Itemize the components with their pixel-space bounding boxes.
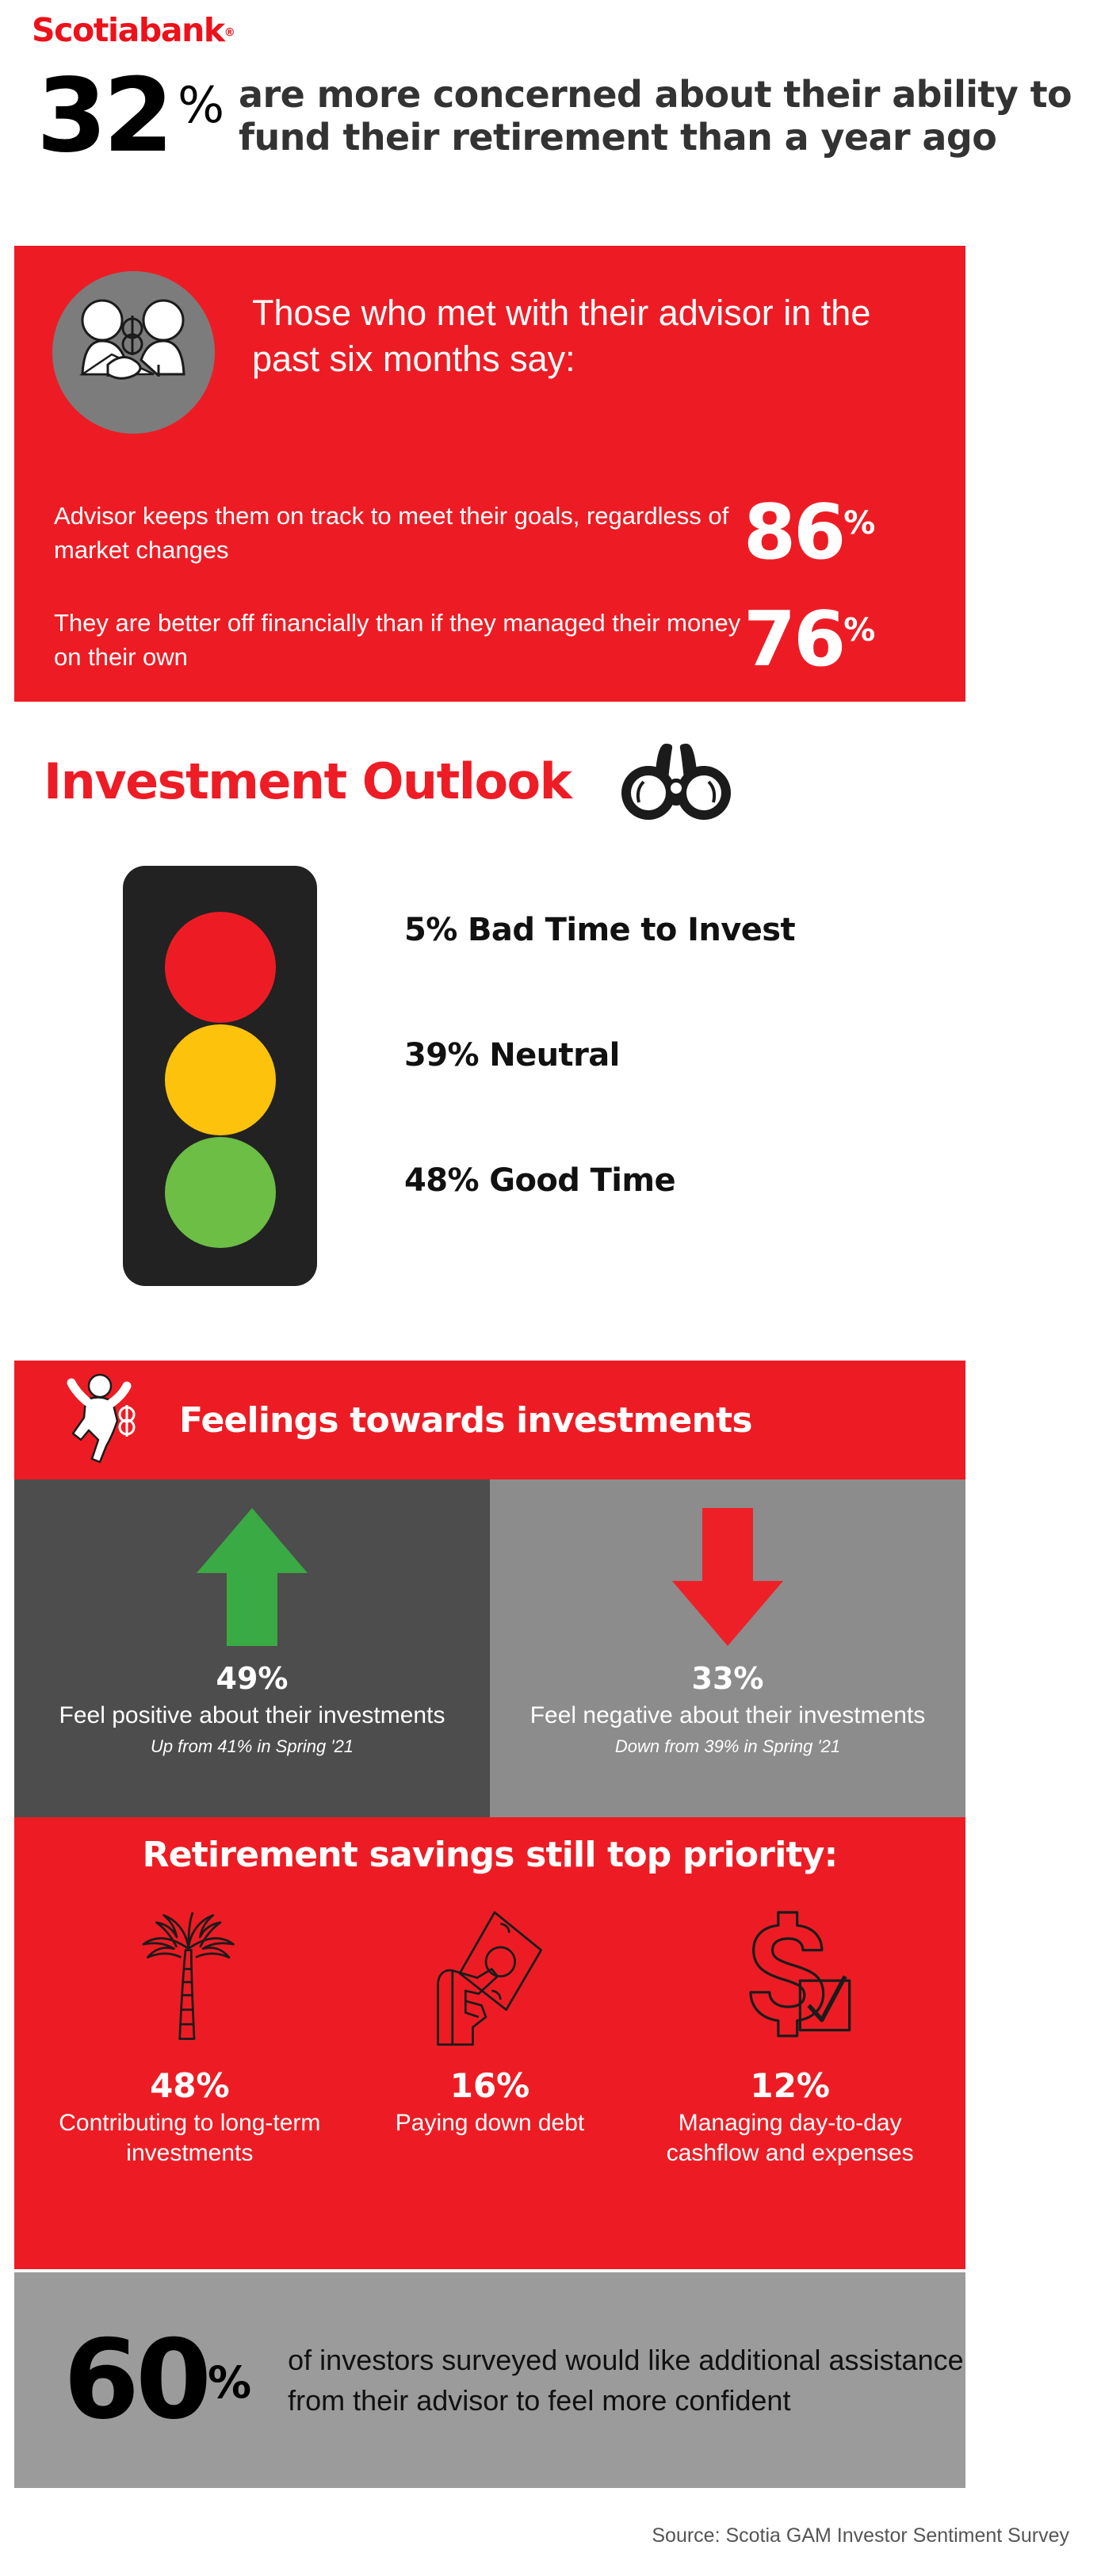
- retirement-item-debt: 16% Paying down debt: [340, 1897, 640, 2169]
- advisor-stat-percent: %: [843, 505, 875, 542]
- handshake-advisor-icon: [52, 271, 215, 434]
- retirement-columns: 48% Contributing to long-term investment…: [14, 1897, 965, 2169]
- retirement-label-cashflow: Managing day-to-day cashflow and expense…: [651, 2108, 929, 2169]
- advisor-stat-value: 86 %: [744, 500, 875, 567]
- traffic-light: [123, 866, 317, 1286]
- headline-number: 32: [36, 70, 170, 163]
- advisor-stat-number: 86: [744, 500, 843, 567]
- hand-cash-icon: [351, 1897, 629, 2052]
- dollar-checkmark-icon: [651, 1897, 929, 2052]
- bottom-stat-value: 60 %: [63, 2335, 251, 2425]
- up-arrow-icon: [189, 1505, 315, 1649]
- traffic-light-yellow-lamp: [165, 1024, 276, 1135]
- investment-outlook-title: Investment Outlook: [44, 752, 571, 810]
- bottom-stat-panel: 60 % of investors surveyed would like ad…: [14, 2272, 965, 2488]
- feelings-subnote-positive: Up from 41% in Spring '21: [14, 1736, 490, 1757]
- binoculars-icon: [617, 737, 736, 825]
- retirement-value-cashflow: 12%: [651, 2066, 929, 2105]
- retirement-priorities-panel: Retirement savings still top priority:: [14, 1817, 965, 2269]
- outlook-item-bad-time: 5% Bad Time to Invest: [404, 912, 1007, 948]
- advisor-stat-percent: %: [843, 612, 875, 649]
- logo-wordmark: Scotiabank: [32, 11, 224, 49]
- infographic-page: Scotiabank® 32 % are more concerned abou…: [0, 0, 1101, 2576]
- headline-percent-symbol: %: [178, 76, 224, 134]
- retirement-label-long-term: Contributing to long-term investments: [51, 2108, 329, 2169]
- palm-tree-icon: [51, 1897, 329, 2052]
- celebrating-person-icon: [62, 1373, 141, 1467]
- outlook-item-neutral: 39% Neutral: [404, 1037, 1007, 1074]
- advisor-stat-number: 76: [744, 607, 843, 674]
- advisor-panel: Those who met with their advisor in the …: [14, 246, 965, 702]
- bottom-stat-percent: %: [208, 2357, 251, 2408]
- retirement-value-long-term: 48%: [51, 2066, 329, 2105]
- bottom-stat-text: of investors surveyed would like additio…: [288, 2340, 965, 2421]
- retirement-title: Retirement savings still top priority:: [14, 1817, 965, 1875]
- feelings-header: Feelings towards investments: [14, 1361, 965, 1479]
- source-note: Source: Scotia GAM Investor Sentiment Su…: [652, 2524, 1069, 2547]
- retirement-item-long-term: 48% Contributing to long-term investment…: [40, 1897, 340, 2169]
- advisor-heading: Those who met with their advisor in the …: [252, 290, 918, 381]
- registered-trademark-icon: ®: [224, 27, 235, 40]
- feelings-description-negative: Feel negative about their investments: [490, 1700, 965, 1731]
- feelings-columns: 49% Feel positive about their investment…: [14, 1479, 965, 1828]
- down-arrow-icon: [664, 1505, 791, 1649]
- scotiabank-logo: Scotiabank®: [32, 14, 235, 47]
- feelings-description-positive: Feel positive about their investments: [14, 1700, 490, 1731]
- feelings-subnote-negative: Down from 39% in Spring '21: [490, 1736, 965, 1757]
- retirement-value-debt: 16%: [351, 2066, 629, 2105]
- advisor-stat-row: Advisor keeps them on track to meet thei…: [54, 500, 942, 568]
- investment-outlook-labels: 5% Bad Time to Invest 39% Neutral 48% Go…: [404, 912, 1007, 1199]
- retirement-item-cashflow: 12% Managing day-to-day cashflow and exp…: [640, 1897, 940, 2169]
- advisor-stat-label: They are better off financially than if …: [54, 607, 744, 675]
- feelings-title: Feelings towards investments: [179, 1400, 752, 1441]
- feelings-column-negative: 33% Feel negative about their investment…: [490, 1479, 965, 1828]
- investment-outlook-header: Investment Outlook: [44, 737, 736, 825]
- advisor-stat-row: They are better off financially than if …: [54, 607, 942, 675]
- feelings-column-positive: 49% Feel positive about their investment…: [14, 1479, 490, 1828]
- headline-text: are more concerned about their ability t…: [239, 73, 1101, 159]
- advisor-stat-value: 76 %: [744, 607, 875, 674]
- traffic-light-red-lamp: [165, 912, 276, 1023]
- outlook-item-good-time: 48% Good Time: [404, 1162, 1007, 1199]
- feelings-value-positive: 49%: [14, 1661, 490, 1696]
- bottom-stat-number: 60: [63, 2335, 208, 2425]
- headline-stat: 32 % are more concerned about their abil…: [0, 70, 1101, 163]
- retirement-label-debt: Paying down debt: [351, 2108, 629, 2138]
- feelings-value-negative: 33%: [490, 1661, 965, 1696]
- traffic-light-green-lamp: [165, 1137, 276, 1248]
- advisor-stat-label: Advisor keeps them on track to meet thei…: [54, 500, 744, 568]
